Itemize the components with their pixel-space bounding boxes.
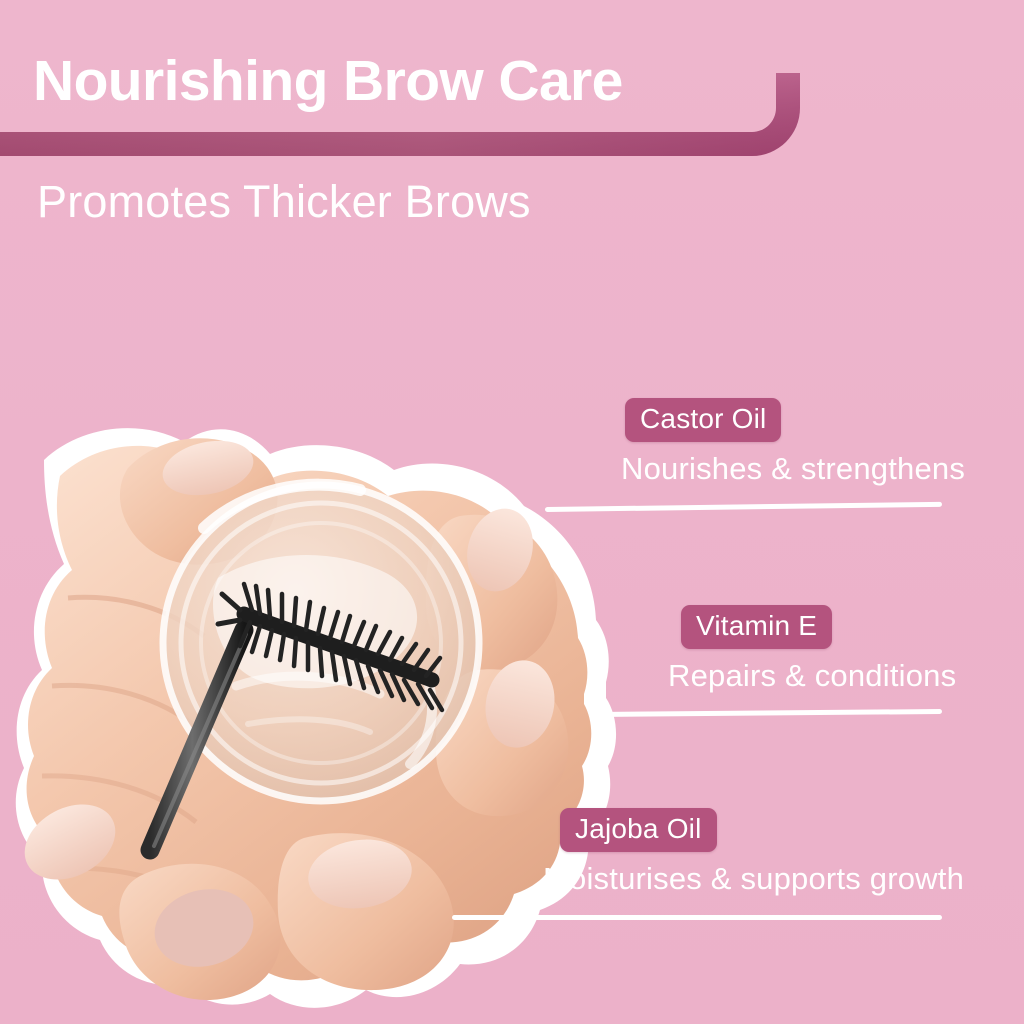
page-subtitle: Promotes Thicker Brows — [37, 177, 531, 227]
feature-divider-2 — [596, 709, 942, 717]
badge-vitamin-e[interactable]: Vitamin E — [681, 605, 832, 649]
page-title: Nourishing Brow Care — [33, 52, 623, 112]
badge-jojoba-oil[interactable]: Jajoba Oil — [560, 808, 717, 852]
feature-description-vitamin-e: Repairs & conditions — [668, 658, 956, 694]
feature-description-castor-oil: Nourishes & strengthens — [621, 451, 965, 487]
product-photo — [8, 398, 628, 1024]
feature-vitamin-e: Vitamin E Repairs & conditions — [681, 605, 956, 694]
feature-description-jojoba-oil: Moisturises & supports growth — [543, 861, 964, 897]
feature-jojoba-oil: Jajoba Oil Moisturises & supports growth — [560, 808, 964, 897]
promo-card: Nourishing Brow Care Promotes Thicker Br… — [0, 0, 1024, 1024]
feature-divider-3 — [452, 915, 942, 920]
feature-castor-oil: Castor Oil Nourishes & strengthens — [625, 398, 965, 487]
badge-castor-oil[interactable]: Castor Oil — [625, 398, 781, 442]
